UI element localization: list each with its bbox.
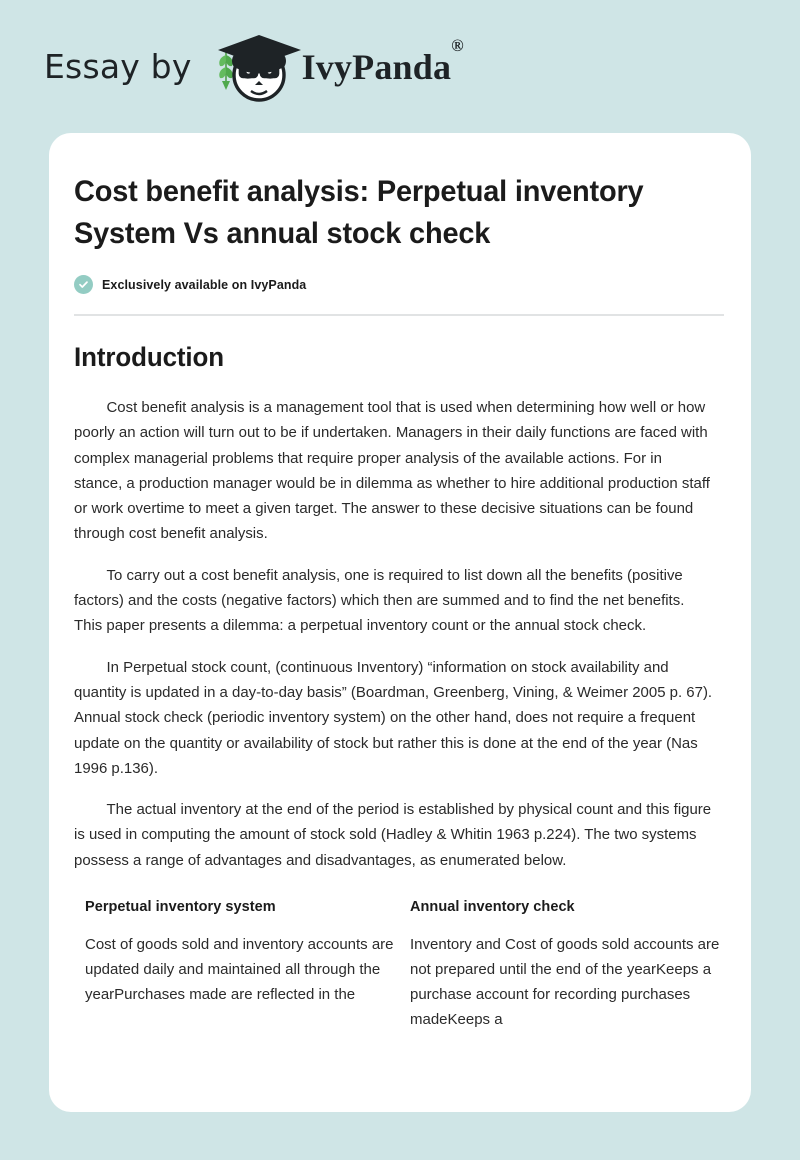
body-paragraph: The actual inventory at the end of the p…	[74, 797, 714, 873]
brand-wordmark: IvyPanda®	[302, 49, 464, 85]
comparison-table: Perpetual inventory system Cost of goods…	[74, 899, 726, 1032]
comparison-column-heading: Annual inventory check	[410, 899, 720, 915]
essay-by-label: Essay by	[44, 50, 192, 83]
page-title: Cost benefit analysis: Perpetual invento…	[74, 171, 701, 255]
comparison-column-perpetual: Perpetual inventory system Cost of goods…	[85, 899, 395, 1032]
comparison-column-annual: Annual inventory check Inventory and Cos…	[410, 899, 720, 1032]
panda-graduation-cap-icon	[204, 31, 308, 103]
body-paragraph: In Perpetual stock count, (continuous In…	[74, 655, 714, 781]
comparison-column-body: Cost of goods sold and inventory account…	[85, 932, 395, 1007]
comparison-column-heading: Perpetual inventory system	[85, 899, 395, 915]
ivypanda-logo[interactable]: IvyPanda®	[204, 31, 464, 103]
comparison-column-body: Inventory and Cost of goods sold account…	[410, 932, 720, 1032]
registered-trademark-icon: ®	[451, 36, 464, 55]
title-divider	[74, 314, 724, 316]
brand-name-text: IvyPanda	[302, 47, 452, 87]
section-heading-introduction: Introduction	[74, 342, 700, 373]
check-circle-icon	[74, 275, 93, 294]
availability-badge: Exclusively available on IvyPanda	[74, 275, 726, 294]
body-paragraph: Cost benefit analysis is a management to…	[74, 395, 714, 547]
essay-card: Cost benefit analysis: Perpetual invento…	[49, 133, 751, 1112]
body-paragraph: To carry out a cost benefit analysis, on…	[74, 563, 714, 639]
brand-header: Essay by	[0, 0, 800, 133]
availability-badge-label: Exclusively available on IvyPanda	[102, 277, 306, 292]
